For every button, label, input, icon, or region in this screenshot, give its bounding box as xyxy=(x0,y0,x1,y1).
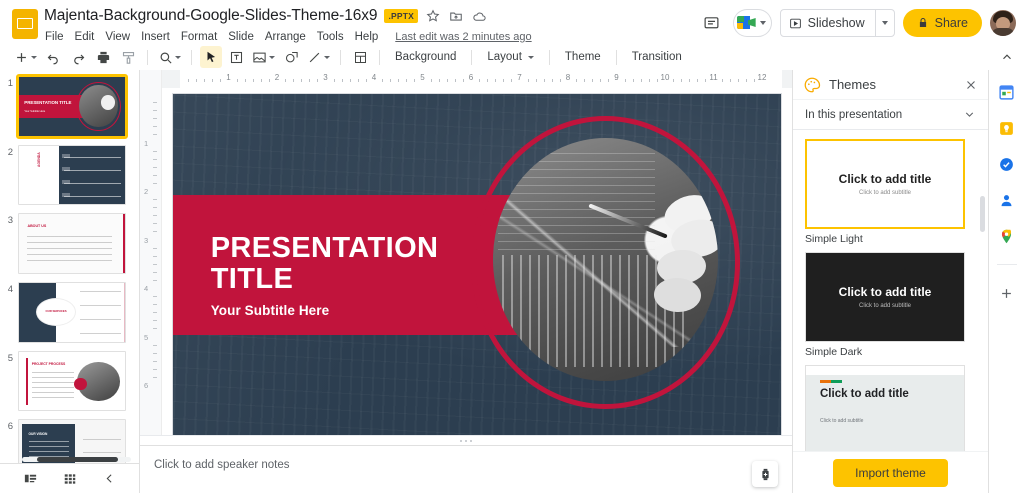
shape-button[interactable] xyxy=(280,46,302,68)
table-icon xyxy=(353,50,368,65)
layout-label: Layout xyxy=(487,51,522,63)
workspace: 1 PRESENTATION TITLE Your Subtitle Here … xyxy=(0,70,1024,493)
chevron-down-icon xyxy=(31,56,37,59)
chevron-up-icon xyxy=(1000,50,1014,64)
ruler-tick xyxy=(220,79,221,82)
ruler-tick xyxy=(309,79,310,82)
ruler-tick-label: 8 xyxy=(566,73,570,82)
ruler-tick xyxy=(253,79,254,82)
slideshow-options-caret[interactable] xyxy=(876,10,894,36)
google-maps-icon[interactable] xyxy=(997,226,1017,246)
theme-option-simple-light[interactable]: Click to add title Click to add subtitle… xyxy=(805,139,976,245)
ruler-tick xyxy=(153,328,157,329)
ruler-tick xyxy=(552,79,553,82)
menu-arrange[interactable]: Arrange xyxy=(265,31,306,43)
theme-preview: Click to add title Click to add subtitle xyxy=(805,252,965,342)
table-button[interactable] xyxy=(349,46,371,68)
ruler-tick xyxy=(625,79,626,82)
collapse-panel-icon[interactable] xyxy=(103,472,116,485)
ruler-tick xyxy=(153,134,157,135)
hand-with-pen-icon xyxy=(614,196,717,337)
ruler-tick xyxy=(641,79,642,82)
ruler-tick xyxy=(495,79,496,82)
ruler-tick xyxy=(153,231,157,232)
theme-option-streamline[interactable]: Click to add title Click to add subtitle… xyxy=(805,365,976,451)
slides-logo-icon xyxy=(12,7,38,41)
ruler-tick-label: 5 xyxy=(144,333,148,342)
ruler-tick xyxy=(293,79,294,82)
ruler-tick xyxy=(153,312,157,313)
google-calendar-icon[interactable] xyxy=(997,82,1017,102)
slide-title-line1: PRESENTATION xyxy=(211,233,439,264)
ruler-tick xyxy=(738,79,739,82)
ruler-tick xyxy=(153,264,157,265)
ruler-tick xyxy=(269,79,270,82)
ruler-tick xyxy=(153,256,157,257)
thumb-title: PRESENTATION TITLE xyxy=(24,100,71,105)
new-slide-button[interactable] xyxy=(12,46,39,68)
ruler-tick xyxy=(576,79,577,82)
move-to-folder-icon[interactable] xyxy=(448,8,464,24)
title-bar-actions: Slideshow Share xyxy=(699,4,1016,37)
filmstrip-view-icon[interactable] xyxy=(23,471,38,486)
slide-number: 3 xyxy=(2,213,18,226)
ruler-tick xyxy=(608,79,609,82)
theme-preview: Click to add title Click to add subtitle xyxy=(805,365,965,451)
ruler-tick xyxy=(153,223,157,224)
ruler-tick-label: 3 xyxy=(144,236,148,245)
slide-filmstrip-panel: 1 PRESENTATION TITLE Your Subtitle Here … xyxy=(0,70,140,493)
thumb-title: OUR SERVICES xyxy=(40,309,72,313)
vertical-ruler[interactable]: 123456 xyxy=(140,88,162,435)
zoom-button[interactable] xyxy=(156,46,183,68)
cloud-saved-icon[interactable] xyxy=(471,8,487,24)
ruler-tick-label: 11 xyxy=(709,73,717,82)
insert-image-button[interactable] xyxy=(250,46,277,68)
plus-icon xyxy=(14,50,29,65)
share-button[interactable]: Share xyxy=(903,9,982,37)
theme-preview-subtitle: Click to add subtitle xyxy=(859,190,911,196)
ruler-tick-label: 6 xyxy=(469,73,473,82)
play-box-icon xyxy=(789,17,802,30)
ruler-tick xyxy=(358,79,359,82)
ruler-tick xyxy=(697,79,698,82)
line-icon xyxy=(307,50,322,65)
slide-preview: AGENDA xyxy=(18,145,126,206)
ruler-tick xyxy=(657,79,658,82)
theme-option-simple-dark[interactable]: Click to add title Click to add subtitle… xyxy=(805,252,976,358)
image-icon xyxy=(252,50,267,65)
thumb-title: ABOUT US xyxy=(27,224,46,228)
ruler-tick xyxy=(153,151,157,152)
undo-icon xyxy=(46,50,61,65)
ruler-tick xyxy=(584,79,585,82)
text-box-icon xyxy=(229,50,244,65)
slide-title-line2: TITLE xyxy=(211,264,439,295)
slide-thumbnail-3[interactable]: 3 ABOUT US xyxy=(0,213,139,282)
google-keep-icon[interactable] xyxy=(997,118,1017,138)
ruler-tick xyxy=(730,79,731,82)
ruler-corner xyxy=(140,70,162,88)
ruler-tick xyxy=(153,159,157,160)
themes-filter-label: In this presentation xyxy=(805,109,902,121)
ruler-tick xyxy=(153,304,157,305)
ruler-tick xyxy=(196,79,197,82)
ruler-tick-label: 6 xyxy=(144,381,148,390)
themes-panel-title: Themes xyxy=(829,77,956,92)
ruler-tick xyxy=(153,102,157,103)
ruler-tick xyxy=(536,79,537,82)
file-format-badge: .PPTX xyxy=(384,9,418,23)
current-slide[interactable]: PRESENTATION TITLE Your Subtitle Here xyxy=(173,94,781,435)
ruler-tick xyxy=(237,79,238,82)
zoom-icon xyxy=(158,50,173,65)
ruler-tick xyxy=(317,79,318,82)
ruler-tick xyxy=(153,207,157,208)
ruler-tick xyxy=(153,167,157,168)
slide-number: 5 xyxy=(2,351,18,364)
menu-format[interactable]: Format xyxy=(181,31,217,43)
theme-preview-subtitle: Click to add subtitle xyxy=(820,418,863,424)
grid-view-icon[interactable] xyxy=(63,472,77,486)
text-box-button[interactable] xyxy=(225,46,247,68)
slide-preview: PROJECT PROCESS xyxy=(18,351,126,412)
explore-button[interactable] xyxy=(752,461,778,487)
slide-number: 6 xyxy=(2,419,18,432)
slide-list[interactable]: 1 PRESENTATION TITLE Your Subtitle Here … xyxy=(0,70,139,463)
ruler-tick-label: 7 xyxy=(517,73,521,82)
ruler-tick xyxy=(334,79,335,82)
share-label: Share xyxy=(935,16,968,30)
theme-button[interactable]: Theme xyxy=(558,46,608,68)
google-tasks-icon[interactable] xyxy=(997,154,1017,174)
meet-button[interactable] xyxy=(733,9,772,37)
ruler-tick xyxy=(479,79,480,82)
canvas-area: 123456 xyxy=(140,88,792,435)
themes-filter-dropdown[interactable]: In this presentation xyxy=(793,100,988,130)
ruler-tick xyxy=(681,79,682,82)
ruler-tick xyxy=(746,79,747,82)
menu-slide[interactable]: Slide xyxy=(228,31,254,43)
ruler-tick xyxy=(503,79,504,82)
chevron-down-icon xyxy=(963,108,976,121)
thumb-title: AGENDA xyxy=(37,152,41,167)
slide-preview: PRESENTATION TITLE Your Subtitle Here xyxy=(18,76,126,137)
cursor-icon xyxy=(204,50,218,64)
ruler-tick xyxy=(153,353,157,354)
slide-subtitle[interactable]: Your Subtitle Here xyxy=(211,303,330,318)
side-apps-rail xyxy=(988,70,1024,493)
ruler-tick xyxy=(153,248,157,249)
slide-stage[interactable]: PRESENTATION TITLE Your Subtitle Here xyxy=(162,88,792,435)
ruler-tick xyxy=(153,377,157,378)
theme-preview-title: Click to add title xyxy=(839,285,932,299)
slide-thumbnail-2[interactable]: 2 AGENDA xyxy=(0,145,139,214)
print-button[interactable] xyxy=(92,46,114,68)
themes-list[interactable]: Click to add title Click to add subtitle… xyxy=(793,130,988,451)
ruler-tick xyxy=(153,215,157,216)
ruler-tick-label: 2 xyxy=(275,73,279,82)
themes-panel-header: Themes xyxy=(793,70,988,100)
ruler-tick xyxy=(754,79,755,82)
ruler-tick xyxy=(439,79,440,82)
theme-name: Simple Dark xyxy=(805,346,976,358)
ruler-tick xyxy=(153,369,157,370)
ruler-tick xyxy=(414,79,415,82)
ruler-tick xyxy=(153,126,157,127)
themes-scrollbar[interactable] xyxy=(980,196,985,232)
slide-preview: OUR SERVICES xyxy=(18,282,126,343)
ruler-tick xyxy=(592,79,593,82)
redo-icon xyxy=(71,50,86,65)
ruler-tick xyxy=(406,79,407,82)
ruler-tick xyxy=(153,320,157,321)
slide-number: 1 xyxy=(2,76,18,89)
thumb-title: OUR VISION xyxy=(29,432,48,436)
ruler-tick xyxy=(153,199,157,200)
slide-thumbnail-5[interactable]: 5 PROJECT PROCESS xyxy=(0,351,139,420)
speaker-notes-panel[interactable]: Click to add speaker notes xyxy=(140,445,792,493)
slideshow-label: Slideshow xyxy=(808,16,865,30)
ruler-tick xyxy=(705,79,706,82)
speaker-notes-placeholder: Click to add speaker notes xyxy=(154,459,290,471)
chevron-down-icon xyxy=(760,21,766,25)
themes-panel-footer: Import theme xyxy=(793,451,988,493)
theme-preview-title: Click to add title xyxy=(820,388,909,400)
theme-preview-subtitle: Click to add subtitle xyxy=(859,303,911,309)
theme-preview: Click to add title Click to add subtitle xyxy=(805,139,965,229)
google-contacts-icon[interactable] xyxy=(997,190,1017,210)
slide-title[interactable]: PRESENTATION TITLE xyxy=(211,233,439,295)
ruler-tick xyxy=(544,79,545,82)
chevron-down-icon xyxy=(175,56,181,59)
select-tool-button[interactable] xyxy=(200,46,222,68)
ruler-tick xyxy=(431,79,432,82)
ruler-tick xyxy=(390,79,391,82)
ruler-tick-label: 12 xyxy=(758,73,767,82)
lock-icon xyxy=(917,17,929,29)
ruler-tick-label: 2 xyxy=(144,187,148,196)
document-title[interactable]: Majenta-Background-Google-Slides-Theme-1… xyxy=(44,7,377,25)
star-icon[interactable] xyxy=(425,8,441,24)
paint-format-icon xyxy=(121,50,136,65)
ruler-tick xyxy=(673,79,674,82)
ruler-tick xyxy=(722,79,723,82)
paint-format-button[interactable] xyxy=(117,46,139,68)
ruler-tick xyxy=(350,79,351,82)
chevron-down-icon xyxy=(324,56,330,59)
layout-button[interactable]: Layout xyxy=(480,46,541,68)
theme-preview-title: Click to add title xyxy=(839,172,932,186)
redo-button[interactable] xyxy=(67,46,89,68)
ruler-tick xyxy=(212,79,213,82)
slide-preview: ABOUT US xyxy=(18,213,126,274)
menu-insert[interactable]: Insert xyxy=(141,31,170,43)
ruler-tick xyxy=(649,79,650,82)
undo-button[interactable] xyxy=(42,46,64,68)
ruler-tick xyxy=(455,79,456,82)
transition-button[interactable]: Transition xyxy=(625,46,689,68)
print-icon xyxy=(96,50,111,65)
ruler-tick xyxy=(301,79,302,82)
explore-icon xyxy=(758,467,773,482)
accent-dash-icon xyxy=(820,380,842,383)
ruler-tick xyxy=(153,345,157,346)
horizontal-ruler[interactable]: 123456789101112 xyxy=(140,70,792,88)
ruler-tick xyxy=(153,296,157,297)
shape-icon xyxy=(284,50,299,65)
ruler-tick xyxy=(398,79,399,82)
ruler-tick xyxy=(528,79,529,82)
ruler-tick xyxy=(153,272,157,273)
import-theme-button[interactable]: Import theme xyxy=(833,459,948,487)
ruler-tick xyxy=(511,79,512,82)
main-toolbar: Background Layout Theme Transition xyxy=(0,44,1024,70)
slides-app-window: Majenta-Background-Google-Slides-Theme-1… xyxy=(0,0,1024,493)
ruler-tick xyxy=(633,79,634,82)
menu-tools[interactable]: Tools xyxy=(317,31,344,43)
collapse-toolbar-button[interactable] xyxy=(996,46,1018,68)
title-bar: Majenta-Background-Google-Slides-Theme-1… xyxy=(0,0,1024,44)
thumb-title: PROJECT PROCESS xyxy=(32,362,66,366)
ruler-tick xyxy=(153,110,157,111)
ruler-tick xyxy=(342,79,343,82)
slide-thumbnail-4[interactable]: 4 OUR SERVICES xyxy=(0,282,139,351)
ruler-tick-label: 9 xyxy=(614,73,618,82)
ruler-tick xyxy=(463,79,464,82)
ruler-tick-label: 3 xyxy=(323,73,327,82)
ruler-tick xyxy=(204,79,205,82)
ruler-tick xyxy=(245,79,246,82)
menu-file[interactable]: File xyxy=(45,31,64,43)
ruler-tick xyxy=(487,79,488,82)
ruler-tick xyxy=(382,79,383,82)
menu-view[interactable]: View xyxy=(105,31,130,43)
menu-help[interactable]: Help xyxy=(355,31,379,43)
slide-number: 4 xyxy=(2,282,18,295)
comment-history-icon[interactable] xyxy=(699,10,725,36)
ruler-tick xyxy=(600,79,601,82)
stock-chart-photo xyxy=(493,138,717,382)
ruler-tick-label: 10 xyxy=(661,73,670,82)
ruler-tick xyxy=(188,79,189,82)
chevron-down-icon xyxy=(528,56,534,59)
ruler-tick xyxy=(689,79,690,82)
ruler-tick xyxy=(153,175,157,176)
slideshow-button[interactable]: Slideshow xyxy=(780,9,895,37)
notes-resize-handle[interactable] xyxy=(140,435,792,445)
ruler-tick xyxy=(285,79,286,82)
background-button[interactable]: Background xyxy=(388,46,463,68)
chevron-down-icon xyxy=(269,56,275,59)
theme-name: Simple Light xyxy=(805,233,976,245)
slide-number: 2 xyxy=(2,145,18,158)
ruler-tick-label: 5 xyxy=(420,73,424,82)
line-button[interactable] xyxy=(305,46,332,68)
add-addon-icon[interactable] xyxy=(997,283,1017,303)
filmstrip-footer xyxy=(0,463,139,493)
slide-circle-graphic[interactable] xyxy=(465,112,781,416)
ruler-tick xyxy=(560,79,561,82)
thumb-sub: Your Subtitle Here xyxy=(24,110,45,113)
last-edit-link[interactable]: Last edit was 2 minutes ago xyxy=(395,31,531,43)
ruler-tick-label: 1 xyxy=(144,139,148,148)
ruler-tick-label: 4 xyxy=(144,284,148,293)
ruler-tick xyxy=(153,118,157,119)
ruler-tick xyxy=(153,280,157,281)
ruler-tick xyxy=(261,79,262,82)
ruler-tick-label: 4 xyxy=(372,73,376,82)
ruler-tick xyxy=(153,361,157,362)
themes-panel: Themes In this presentation Click to add… xyxy=(792,70,988,493)
ruler-tick xyxy=(447,79,448,82)
slide-editor: 123456789101112 123456 xyxy=(140,70,792,493)
ruler-tick xyxy=(153,183,157,184)
filmstrip-horizontal-scrollbar[interactable] xyxy=(22,457,131,462)
meet-icon xyxy=(737,15,758,31)
ruler-tick xyxy=(366,79,367,82)
title-and-menus: Majenta-Background-Google-Slides-Theme-1… xyxy=(44,4,699,47)
close-icon[interactable] xyxy=(964,78,978,92)
slide-thumbnail-1[interactable]: 1 PRESENTATION TITLE Your Subtitle Here xyxy=(0,76,139,145)
menu-edit[interactable]: Edit xyxy=(75,31,95,43)
avatar[interactable] xyxy=(990,10,1016,36)
palette-icon xyxy=(803,76,821,94)
ruler-tick-label: 1 xyxy=(226,73,230,82)
